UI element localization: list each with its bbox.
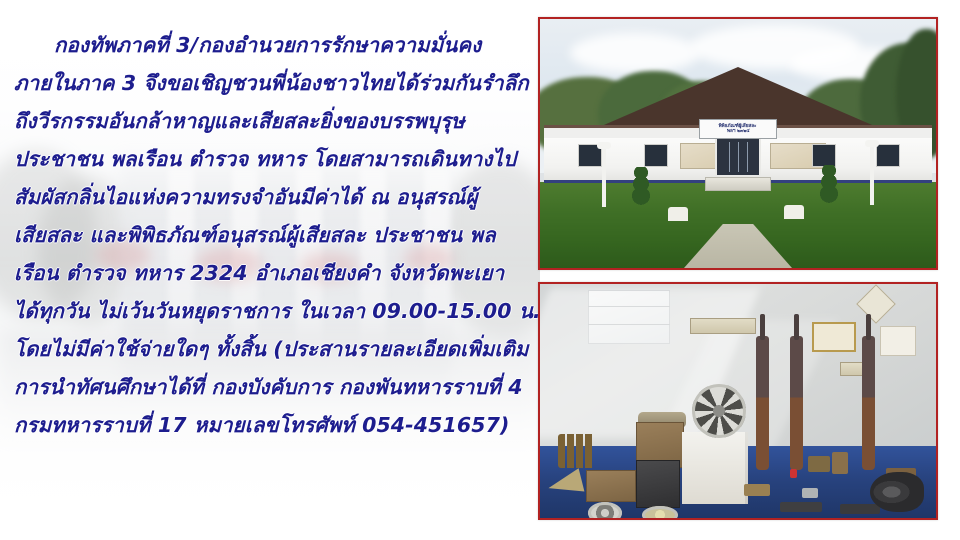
framed-certificate [812,322,856,352]
door-mullion [738,142,739,172]
announcement-line: กองทัพภาคที่ 3/กองอำนวยการรักษาความมั่นค… [14,26,526,64]
field-radio [636,460,680,508]
entrance-steps [705,177,771,191]
topiary-shrub [820,165,838,205]
exhibit-label [690,318,756,334]
film-reel [588,502,622,520]
announcement-line: เรือน ตำรวจ ทหาร 2324 อำเภอเชียงคำ จังหว… [14,254,526,292]
museum-display-scene [540,284,936,518]
artifact [802,488,818,498]
artifact [744,484,770,496]
window [876,144,900,167]
artifact [790,469,797,478]
door-mullion [729,142,730,172]
lamp-post [870,147,874,205]
announcement-text-block: กองทัพภาคที่ 3/กองอำนวยการรักษาความมั่นค… [14,26,526,444]
announcement-line: ประชาชน พลเรือน ตำรวจ ทหาร โดยสามารถเดิน… [14,140,526,178]
loudspeaker-horn [870,472,924,512]
rifle [862,336,875,470]
announcement-line: ภายในภาค 3 จึงขอเชิญชวนพี่น้องชาวไทยได้ร… [14,64,526,102]
photo-museum-exterior: พิพิธภัณฑ์ผู้เสียสละ พลฯ ๒๓๒๔ [538,17,938,270]
window [812,144,836,167]
building-name-sign: พิพิธภัณฑ์ผู้เสียสละ พลฯ ๒๓๒๔ [699,119,777,139]
announcement-line: การนำทัศนศึกษาได้ที่ กองบังคับการ กองพัน… [14,368,526,406]
garden-marker [668,207,688,221]
announcement-line: ถึงวีรกรรมอันกล้าหาญและเสียสละยิ่งของบรร… [14,102,526,140]
building-sign-line2: พลฯ ๒๓๒๔ [727,129,750,134]
announcement-line: กรมทหารราบที่ 17 หมายเลขโทรศัพท์ 054-451… [14,406,526,444]
display-pedestal [682,432,748,504]
artifact [832,452,848,474]
slide-canvas: กองทัพภาคที่ 3/กองอำนวยการรักษาความมั่นค… [0,0,960,540]
rifle [756,336,769,470]
handwritten-note [880,326,916,356]
door-mullion [747,142,748,172]
ammunition-shells [558,434,598,468]
announcement-line: สัมผัสกลิ่นไอแห่งความทรงจำอันมีค่าได้ ณ … [14,178,526,216]
artifact [780,502,822,512]
window [644,144,668,167]
photo-museum-display [538,282,938,520]
artifact [808,456,830,472]
artifact [840,504,880,514]
announcement-line: เสียสละ และพิพิธภัณฑ์อนุสรณ์ผู้เสียสละ ป… [14,216,526,254]
wooden-crate [586,470,636,502]
lamp-post [602,149,606,207]
announcement-line: ได้ทุกวัน ไม่เว้นวันหยุดราชการ ในเวลา 09… [14,292,526,330]
topiary-shrub [632,167,650,207]
museum-exterior-scene: พิพิธภัณฑ์ผู้เสียสละ พลฯ ๒๓๒๔ [540,19,936,268]
entrance-door [715,137,761,177]
film-reel [692,384,746,438]
rifle [790,336,803,470]
film-reel [642,506,678,520]
announcement-line: โดยไม่มีค่าใช้จ่ายใดๆ ทั้งสิ้น (ประสานรา… [14,330,526,368]
garden-marker [784,205,804,219]
